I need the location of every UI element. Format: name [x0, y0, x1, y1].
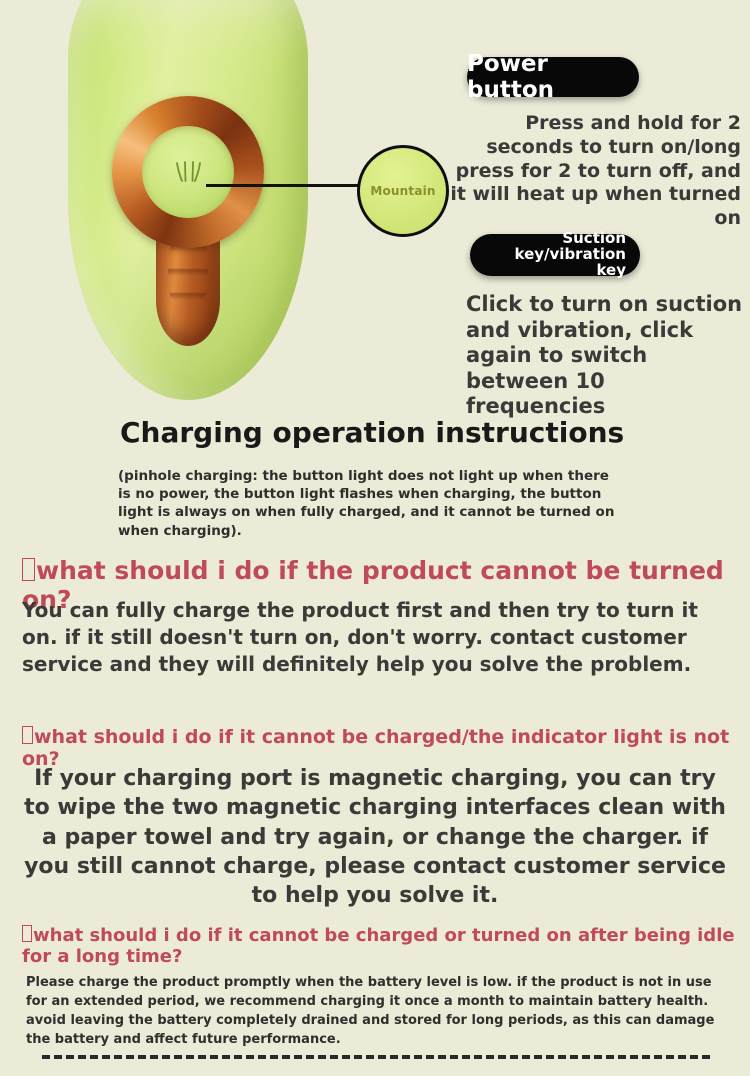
copper-ring	[112, 96, 264, 248]
crown-fan-icon	[171, 159, 205, 185]
product-instruction-page: Mountain Power button Press and hold for…	[0, 0, 750, 1076]
charging-section-title: Charging operation instructions	[120, 416, 624, 449]
power-button-pill-label: Power button	[467, 51, 639, 103]
faq-answer-3: Please charge the product promptly when …	[26, 974, 726, 1049]
faq-question-3: what should i do if it cannot be charged…	[22, 925, 750, 967]
missing-glyph-box-icon	[22, 726, 33, 744]
callout-leader-line	[206, 184, 371, 187]
faq-question-3-text: what should i do if it cannot be charged…	[22, 925, 735, 967]
faq-answer-2: If your charging port is magnetic chargi…	[18, 764, 732, 910]
mountain-callout-circle: Mountain	[357, 145, 449, 237]
power-button-surface[interactable]	[142, 126, 234, 218]
bottom-dashed-divider	[42, 1055, 710, 1059]
copper-keyhole-assembly	[112, 96, 264, 346]
suction-key-description: Click to turn on suction and vibration, …	[466, 292, 748, 420]
mountain-label: Mountain	[370, 184, 435, 198]
device-top-fade	[68, 0, 308, 60]
power-button-pill: Power button	[467, 57, 639, 97]
missing-glyph-box-icon	[22, 925, 32, 942]
missing-glyph-box-icon	[22, 558, 35, 581]
power-button-description: Press and hold for 2 seconds to turn on/…	[443, 112, 741, 231]
faq-answer-1: You can fully charge the product first a…	[22, 597, 722, 677]
suction-key-pill-label: Suction key/vibration key	[484, 231, 626, 278]
product-photo	[0, 0, 360, 400]
charging-section-note: (pinhole charging: the button light does…	[118, 467, 618, 540]
suction-key-pill: Suction key/vibration key	[470, 234, 640, 276]
